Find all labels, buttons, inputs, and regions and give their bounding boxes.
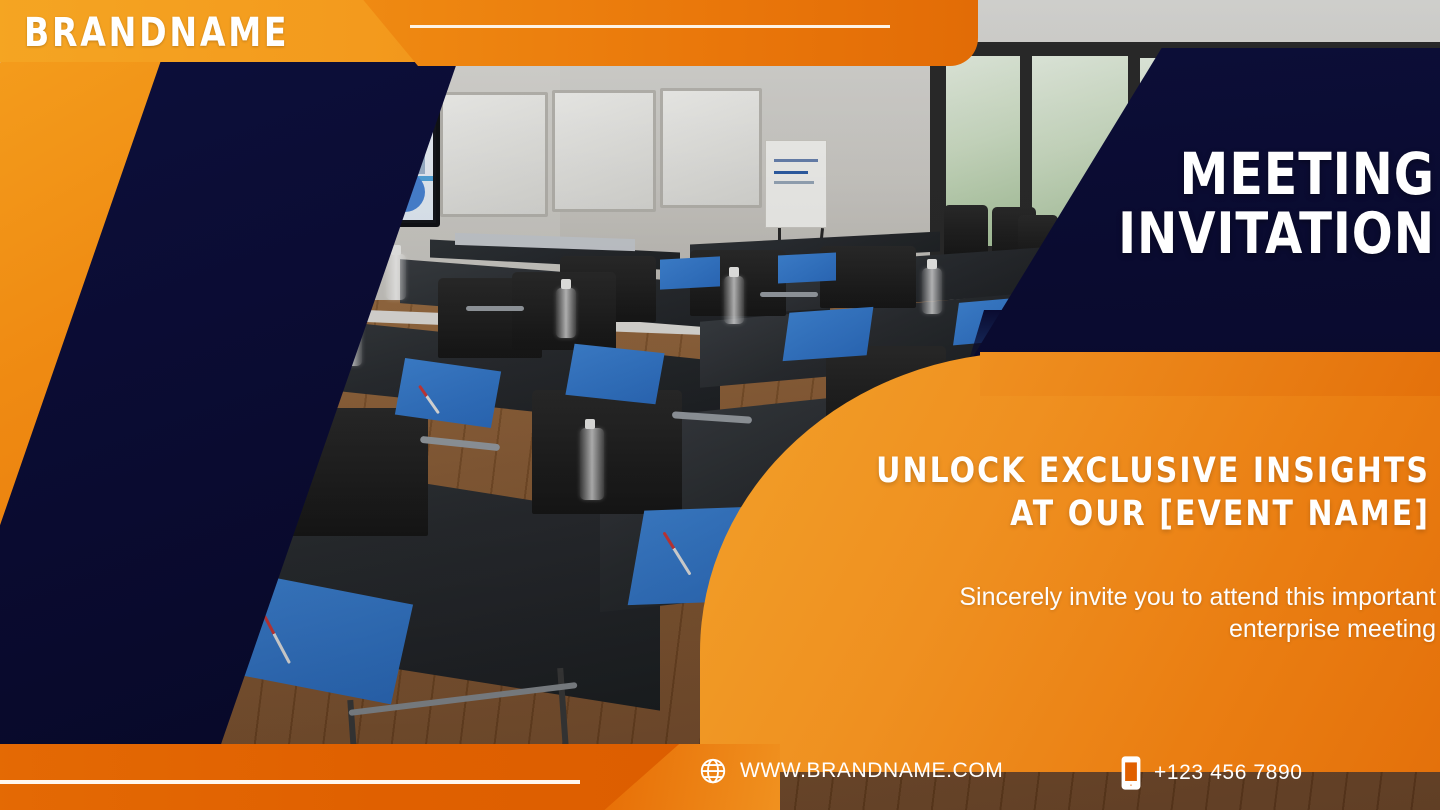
invitation-subtext: Sincerely invite you to attend this impo…	[790, 582, 1436, 645]
page-title: MEETING INVITATION	[1035, 146, 1435, 263]
subtext-line-1: Sincerely invite you to attend this impo…	[790, 582, 1436, 614]
invitation-poster: BRANDNAME MEETING INVITATION UNLOCK EXCL…	[0, 0, 1440, 810]
footer-website[interactable]: WWW.BRANDNAME.COM	[698, 756, 1003, 786]
footer-bar	[0, 744, 720, 810]
header-divider-line	[410, 25, 890, 28]
footer-phone[interactable]: +123 456 7890	[1120, 756, 1303, 790]
brand-name: BRANDNAME	[24, 10, 337, 56]
mobile-phone-icon	[1120, 756, 1142, 790]
header-banner-dark	[360, 0, 978, 66]
subtext-line-2: enterprise meeting	[790, 614, 1436, 646]
headline: UNLOCK EXCLUSIVE INSIGHTS AT OUR [EVENT …	[851, 450, 1431, 535]
website-text: WWW.BRANDNAME.COM	[740, 759, 1003, 783]
headline-line-2: AT OUR [EVENT NAME]	[851, 493, 1431, 536]
content-panel-tail	[980, 352, 1440, 396]
globe-icon	[698, 756, 728, 786]
title-line-2: INVITATION	[1059, 207, 1435, 263]
footer-divider-line	[0, 780, 580, 784]
phone-text: +123 456 7890	[1154, 761, 1303, 785]
title-line-1: MEETING	[1059, 146, 1435, 203]
headline-line-1: UNLOCK EXCLUSIVE INSIGHTS	[851, 450, 1431, 493]
